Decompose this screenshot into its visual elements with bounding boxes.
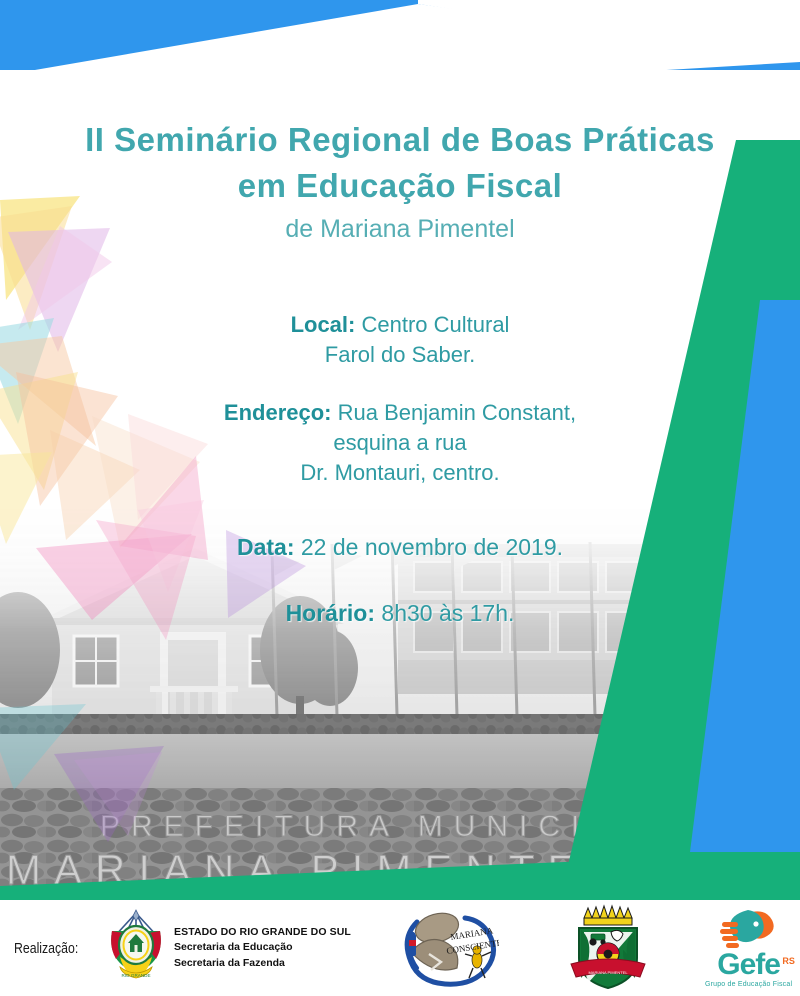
local-label: Local: bbox=[291, 312, 356, 337]
horario-value: 8h30 às 17h. bbox=[381, 600, 514, 626]
data-info: Data: 22 de novembro de 2019. bbox=[0, 488, 800, 562]
gefe-tagline: Grupo de Educação Fiscal bbox=[705, 981, 792, 988]
page-subtitle: de Mariana Pimentel bbox=[0, 208, 800, 246]
svg-text:PREFEITURA MUNICIPAL: PREFEITURA MUNICIPAL bbox=[100, 810, 678, 843]
realizacao-label: Realização: bbox=[14, 940, 85, 957]
rs-line1: ESTADO DO RIO GRANDE DO SUL bbox=[174, 925, 351, 940]
data-label: Data: bbox=[237, 534, 295, 560]
svg-text:RIO GRANDE: RIO GRANDE bbox=[121, 973, 150, 978]
gefe-rs-superscript: RS bbox=[782, 946, 795, 976]
gefe-handshake-icon bbox=[718, 908, 780, 950]
local-line2: Farol do Saber. bbox=[0, 340, 800, 370]
logo-mariana-pimentel: MARIANA PIMENTEL bbox=[567, 904, 649, 992]
logo-mariana-consciente: MARIANA CONSCIENTE bbox=[395, 904, 499, 992]
endereco-line2: esquina a rua bbox=[0, 428, 800, 458]
poster: PREFEITURA MUNICIPAL MARIANA PIMENTEL bbox=[0, 0, 800, 996]
endereco-line1: Endereço: Rua Benjamin Constant, bbox=[0, 398, 800, 428]
local-line1: Local: Centro Cultural bbox=[0, 310, 800, 340]
mariana-pimentel-caption: MARIANA PIMENTEL bbox=[588, 970, 628, 975]
horario-info: Horário: 8h30 às 17h. bbox=[0, 562, 800, 628]
page-title-line1: II Seminário Regional de Boas Práticas bbox=[0, 0, 800, 162]
endereco-label: Endereço: bbox=[224, 400, 332, 425]
poster-text-content: II Seminário Regional de Boas Práticas e… bbox=[0, 0, 800, 628]
local-value: Centro Cultural bbox=[361, 312, 509, 337]
gefe-wordmark: Gefe RS bbox=[717, 950, 780, 980]
data-value: 22 de novembro de 2019. bbox=[301, 534, 563, 560]
endereco-info: Endereço: Rua Benjamin Constant, esquina… bbox=[0, 370, 800, 488]
endereco-value: Rua Benjamin Constant, bbox=[338, 400, 576, 425]
gefe-word-text: Gefe bbox=[717, 948, 780, 981]
rs-line3: Secretaria da Fazenda bbox=[174, 956, 351, 971]
horario-label: Horário: bbox=[286, 600, 375, 626]
rio-grande-do-sul-coat-of-arms-icon: RIO GRANDE bbox=[104, 907, 168, 989]
mariana-consciente-icon: MARIANA CONSCIENTE bbox=[395, 904, 499, 992]
rs-line2: Secretaria da Educação bbox=[174, 940, 351, 955]
logo-gefe: Gefe RS Grupo de Educação Fiscal bbox=[705, 908, 792, 988]
mariana-pimentel-coat-of-arms-icon: MARIANA PIMENTEL bbox=[567, 904, 649, 992]
local-info: Local: Centro Cultural Farol do Saber. bbox=[0, 246, 800, 370]
rio-grande-do-sul-text: ESTADO DO RIO GRANDE DO SUL Secretaria d… bbox=[174, 925, 351, 971]
page-title-line2: em Educação Fiscal bbox=[0, 162, 800, 208]
endereco-line3: Dr. Montauri, centro. bbox=[0, 458, 800, 488]
logo-rio-grande-do-sul: RIO GRANDE ESTADO DO RIO GRANDE DO SUL S… bbox=[104, 907, 351, 989]
footer-logos: Realização: bbox=[0, 900, 800, 996]
